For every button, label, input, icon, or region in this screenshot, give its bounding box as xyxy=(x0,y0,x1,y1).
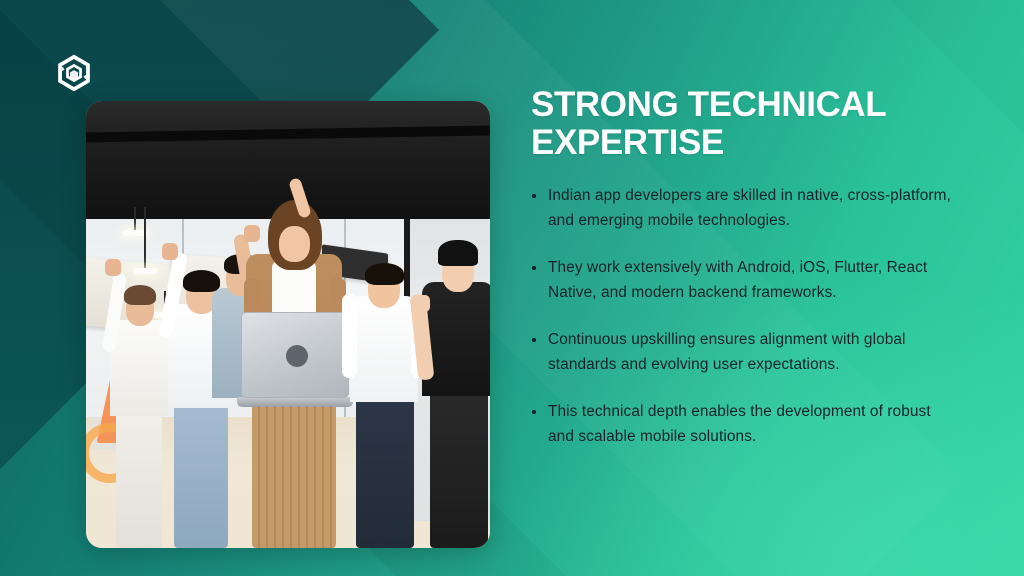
page-title: STRONG TECHNICAL EXPERTISE xyxy=(531,86,951,162)
list-item-text: They work extensively with Android, iOS,… xyxy=(548,259,927,301)
photo-person xyxy=(340,226,428,548)
bullet-dot-icon xyxy=(532,338,536,342)
bullet-list: Indian app developers are skilled in nat… xyxy=(531,184,951,450)
photo-laptop xyxy=(241,312,349,398)
photo-pendant-light xyxy=(134,207,136,231)
list-item: This technical depth enables the develop… xyxy=(531,400,951,450)
list-item: Indian app developers are skilled in nat… xyxy=(531,184,951,234)
photo-laptop-logo xyxy=(286,345,308,367)
bullet-dot-icon xyxy=(532,266,536,270)
list-item-text: This technical depth enables the develop… xyxy=(548,403,931,445)
list-item: They work extensively with Android, iOS,… xyxy=(531,256,951,306)
slide-canvas: STRONG TECHNICAL EXPERTISE Indian app de… xyxy=(0,0,1024,576)
slide-content: STRONG TECHNICAL EXPERTISE Indian app de… xyxy=(531,86,951,450)
bullet-dot-icon xyxy=(532,194,536,198)
bullet-dot-icon xyxy=(532,410,536,414)
team-photo-card xyxy=(86,101,490,548)
list-item: Continuous upskilling ensures alignment … xyxy=(531,328,951,378)
photo-ceiling-beam xyxy=(86,125,490,142)
photo-person xyxy=(416,212,490,548)
office-team-photo xyxy=(86,101,490,548)
photo-laptop-base xyxy=(237,397,353,407)
list-item-text: Continuous upskilling ensures alignment … xyxy=(548,331,906,373)
hexagon-cube-logo-icon xyxy=(54,53,94,93)
list-item-text: Indian app developers are skilled in nat… xyxy=(548,187,951,229)
